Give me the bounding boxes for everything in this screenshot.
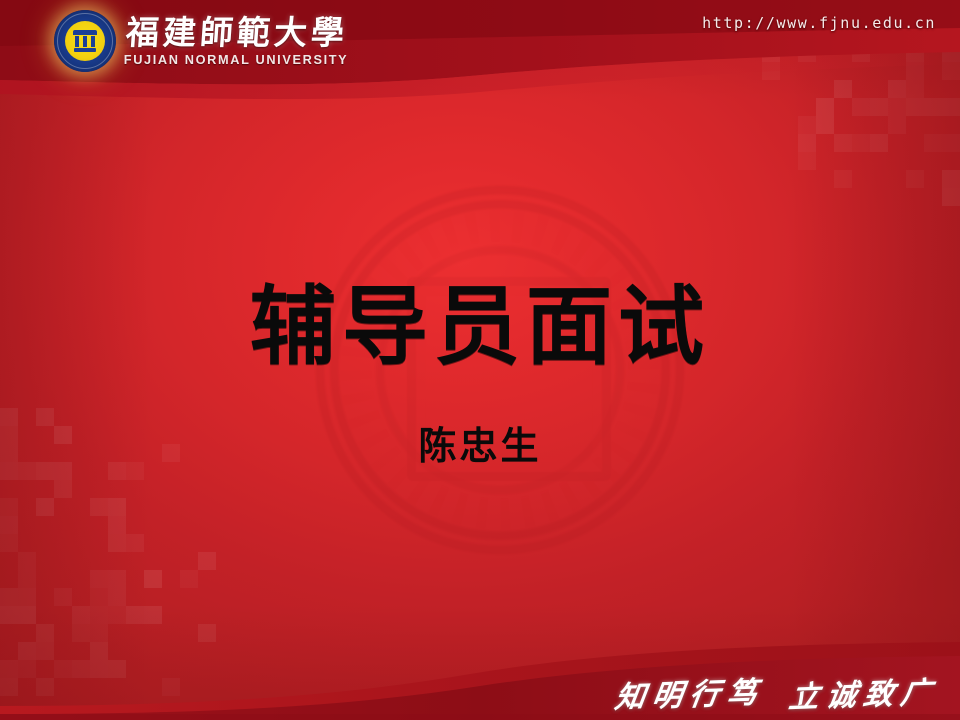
seal-building-base bbox=[74, 48, 96, 52]
motto-part-1: 知明行笃 bbox=[612, 667, 767, 716]
motto-part-2: 立诚致广 bbox=[786, 667, 941, 716]
university-name-cn: 福建師範大學 bbox=[125, 16, 349, 49]
seal-building-roof bbox=[73, 30, 97, 35]
seal-building-column bbox=[75, 36, 79, 47]
university-seal-icon bbox=[54, 10, 116, 72]
seal-building-column bbox=[91, 36, 95, 47]
university-name-en: FUJIAN NORMAL UNIVERSITY bbox=[124, 54, 350, 67]
presenter-name: 陈忠生 bbox=[0, 415, 960, 470]
presentation-slide: 福建師範大學 FUJIAN NORMAL UNIVERSITY http://w… bbox=[0, 0, 960, 720]
slide-header-band: 福建師範大學 FUJIAN NORMAL UNIVERSITY http://w… bbox=[0, 0, 960, 120]
page-title: 辅导员面试 bbox=[0, 282, 960, 373]
seal-building-column bbox=[83, 36, 87, 47]
university-website-url[interactable]: http://www.fjnu.edu.cn bbox=[702, 14, 936, 32]
university-name-block: 福建師範大學 FUJIAN NORMAL UNIVERSITY bbox=[126, 16, 348, 67]
university-motto: 知明行笃 立诚致广 bbox=[616, 670, 938, 714]
title-block: 辅导员面试 陈忠生 bbox=[0, 282, 960, 470]
university-logo: 福建師範大學 FUJIAN NORMAL UNIVERSITY bbox=[54, 10, 348, 72]
slide-footer-band: 知明行笃 立诚致广 bbox=[0, 610, 960, 720]
seal-building-icon bbox=[73, 30, 97, 52]
